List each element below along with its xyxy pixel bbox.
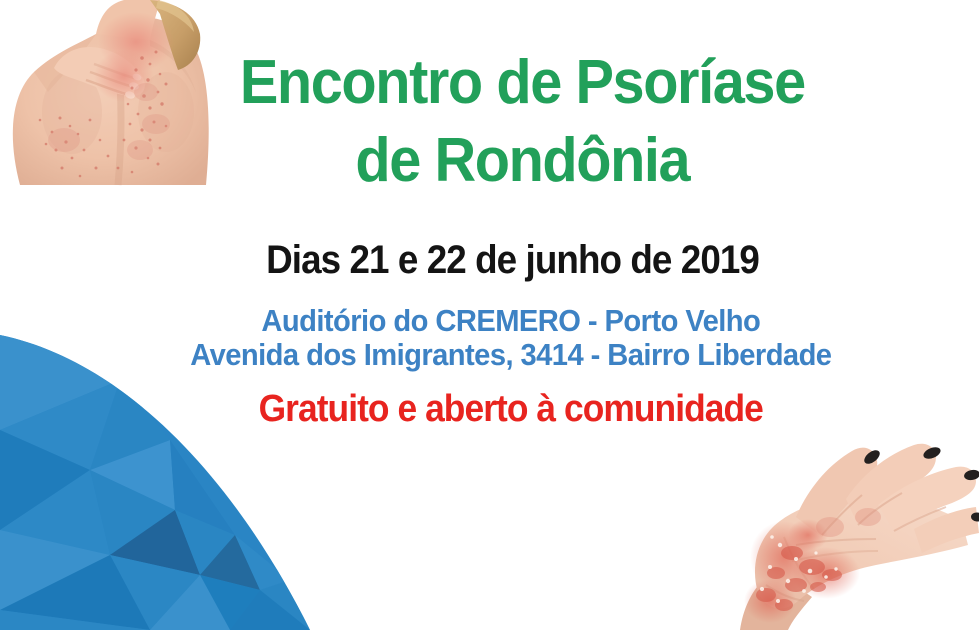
psoriasis-event-poster: Encontro de Psoríase de Rondônia Dias 21… [0,0,979,630]
poster-title-line-2: de Rondônia [35,130,977,192]
poster-venue-address: Avenida dos Imigrantes, 3414 - Bairro Li… [30,337,971,373]
poster-title-line-1: Encontro de Psoríase [35,52,977,114]
poster-date: Dias 21 e 22 de junho de 2019 [40,238,963,283]
poster-venue-name: Auditório do CREMERO - Porto Velho [30,303,971,339]
poster-free-admission-note: Gratuito e aberto à comunidade [35,388,966,431]
poster-text-stack: Encontro de Psoríase de Rondônia Dias 21… [0,0,979,630]
